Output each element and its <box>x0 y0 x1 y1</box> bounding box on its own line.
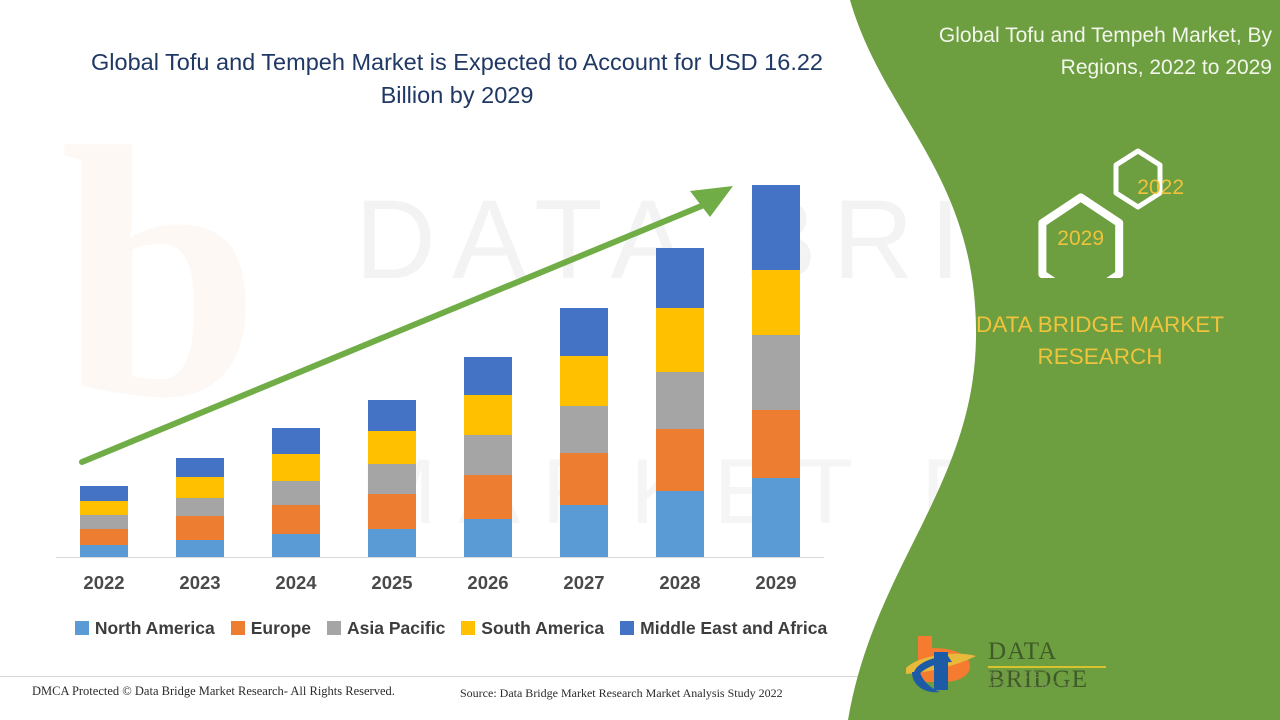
chart-title: Global Tofu and Tempeh Market is Expecte… <box>62 46 852 113</box>
bar-segment <box>272 505 320 533</box>
hexagon-outlines-icon <box>1004 143 1204 278</box>
x-axis-tick-label: 2024 <box>248 572 344 594</box>
bar-segment <box>464 435 512 474</box>
x-axis-tick-label: 2025 <box>344 572 440 594</box>
bar-segment <box>656 372 704 430</box>
bar-segment <box>656 308 704 372</box>
legend-item[interactable]: Middle East and Africa <box>620 618 827 639</box>
bar-segment <box>368 431 416 464</box>
legend-label: Middle East and Africa <box>640 618 827 639</box>
bar-segment <box>368 494 416 528</box>
legend-swatch <box>231 621 245 635</box>
bar-segment <box>80 529 128 545</box>
bar-segment <box>752 478 800 557</box>
bar-segment <box>272 534 320 557</box>
footer-source: Source: Data Bridge Market Research Mark… <box>460 686 783 701</box>
bar-segment <box>176 498 224 516</box>
green-panel-content: Global Tofu and Tempeh Market, By Region… <box>840 0 1280 720</box>
bar-segment <box>272 454 320 481</box>
bar-segment <box>464 395 512 436</box>
bar-segment <box>176 516 224 539</box>
chart-panel: Global Tofu and Tempeh Market is Expecte… <box>0 0 900 720</box>
legend-item[interactable]: South America <box>461 618 604 639</box>
bar-segment <box>560 406 608 453</box>
bar-segment <box>80 501 128 516</box>
hexagon-badges: 2022 2029 <box>1004 143 1204 278</box>
bar-segment <box>464 475 512 519</box>
bar-group <box>56 157 824 557</box>
hexagon-label-2022: 2022 <box>1137 176 1184 200</box>
bar-column <box>248 157 344 557</box>
x-axis-tick-label: 2028 <box>632 572 728 594</box>
bar-segment <box>368 529 416 557</box>
bar-segment <box>272 481 320 506</box>
bar-segment <box>464 519 512 557</box>
bar-segment <box>752 270 800 335</box>
stacked-bar <box>464 357 512 557</box>
bar-segment <box>656 429 704 490</box>
x-axis-tick-label: 2026 <box>440 572 536 594</box>
stacked-bar <box>176 458 224 557</box>
bar-column <box>344 157 440 557</box>
x-axis-line <box>56 557 824 558</box>
bar-segment <box>80 545 128 557</box>
x-axis-tick-label: 2029 <box>728 572 824 594</box>
bar-segment <box>368 464 416 495</box>
databridge-mark-icon <box>904 630 994 696</box>
bar-segment <box>368 400 416 431</box>
x-axis-tick-label: 2023 <box>152 572 248 594</box>
bar-segment <box>752 335 800 410</box>
legend-label: South America <box>481 618 604 639</box>
bar-segment <box>656 248 704 308</box>
x-axis-tick-label: 2027 <box>536 572 632 594</box>
bar-column <box>56 157 152 557</box>
bar-segment <box>464 357 512 395</box>
company-logo: DATA BRIDGE MARKET RESEARCH <box>904 630 1134 702</box>
bar-segment <box>560 505 608 557</box>
brand-title: DATA BRIDGE MARKET RESEARCH <box>950 309 1250 373</box>
stacked-bar <box>368 400 416 557</box>
bar-segment <box>752 185 800 270</box>
chart-legend: North AmericaEuropeAsia PacificSouth Ame… <box>56 614 846 642</box>
bar-column <box>728 157 824 557</box>
hexagon-label-2029: 2029 <box>1057 227 1104 251</box>
footer-divider <box>0 676 860 677</box>
stacked-bar <box>80 486 128 557</box>
stacked-bar <box>560 308 608 557</box>
legend-swatch <box>620 621 634 635</box>
x-axis-tick-label: 2022 <box>56 572 152 594</box>
bar-segment <box>656 491 704 557</box>
stacked-bar <box>656 248 704 557</box>
logo-tagline: MARKET RESEARCH <box>990 670 1134 690</box>
stacked-bar <box>752 185 800 557</box>
legend-label: Asia Pacific <box>347 618 445 639</box>
bar-segment <box>272 428 320 454</box>
legend-item[interactable]: North America <box>75 618 215 639</box>
logo-underline <box>988 666 1106 668</box>
legend-item[interactable]: Asia Pacific <box>327 618 445 639</box>
bar-column <box>632 157 728 557</box>
bar-segment <box>176 477 224 498</box>
legend-swatch <box>75 621 89 635</box>
bar-segment <box>80 486 128 501</box>
bar-segment <box>176 458 224 478</box>
bar-column <box>536 157 632 557</box>
stacked-bar <box>272 428 320 557</box>
bar-segment <box>560 453 608 506</box>
footer-copyright: DMCA Protected © Data Bridge Market Rese… <box>32 684 395 699</box>
legend-swatch <box>327 621 341 635</box>
x-axis-labels: 20222023202420252026202720282029 <box>56 568 824 598</box>
bar-column <box>152 157 248 557</box>
bar-segment <box>560 356 608 406</box>
bar-column <box>440 157 536 557</box>
bar-segment <box>176 540 224 557</box>
legend-label: North America <box>95 618 215 639</box>
bar-segment <box>560 308 608 356</box>
infographic-canvas: b DATA BRIDGE MARKET RESEARCH Global Tof… <box>0 0 1280 720</box>
bar-segment <box>80 515 128 529</box>
legend-label: Europe <box>251 618 311 639</box>
bar-segment <box>752 410 800 479</box>
legend-swatch <box>461 621 475 635</box>
green-panel-title: Global Tofu and Tempeh Market, By Region… <box>852 20 1272 83</box>
legend-item[interactable]: Europe <box>231 618 311 639</box>
